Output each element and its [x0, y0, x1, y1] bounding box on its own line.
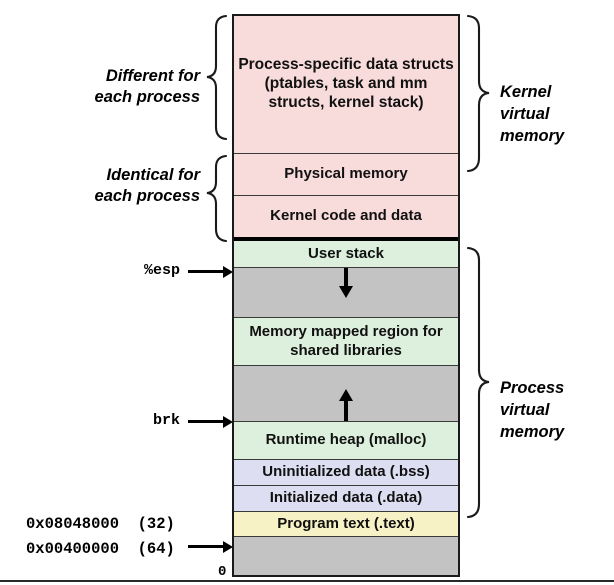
region-memory-mapped: Memory mapped region for shared librarie…: [234, 318, 458, 366]
region-kernel-code-and-data: Kernel code and data: [234, 196, 458, 241]
region-initialized-data: Initialized data (.data): [234, 486, 458, 512]
brace-kernel-virtual-memory: [468, 16, 489, 171]
address-label-64bit: 0x00400000 (64): [26, 540, 175, 558]
brace-different-for-each-process: [207, 16, 226, 139]
region-physical-memory: Physical memory: [234, 154, 458, 196]
memory-layout-diagram: Process-specific data structs (ptables, …: [0, 0, 614, 585]
brace-process-virtual-memory: [468, 248, 489, 517]
label-process-virtual-memory: Process virtual memory: [500, 378, 610, 443]
region-program-text: Program text (.text): [234, 512, 458, 537]
label-identical-for-each-process: Identical for each process: [58, 165, 200, 208]
bottom-divider: [0, 580, 614, 582]
pointer-arrow-brk: [188, 420, 224, 423]
region-heap-growth-gap: [234, 366, 458, 422]
label-kernel-virtual-memory: Kernel virtual memory: [500, 82, 610, 147]
region-runtime-heap: Runtime heap (malloc): [234, 422, 458, 460]
address-label-32bit: 0x08048000 (32): [26, 515, 175, 533]
pointer-arrow-esp: [188, 270, 224, 273]
label-different-for-each-process: Different for each process: [58, 66, 200, 109]
pointer-label-esp: %esp: [80, 262, 180, 279]
address-label-zero: 0: [218, 564, 226, 580]
region-user-stack: User stack: [234, 241, 458, 268]
region-stack-growth-gap: [234, 268, 458, 318]
brace-identical-for-each-process: [207, 156, 226, 241]
pointer-arrow-program-text: [188, 545, 224, 548]
region-reserved-low-memory: [234, 537, 458, 575]
region-process-specific-data: Process-specific data structs (ptables, …: [234, 16, 458, 154]
pointer-label-brk: brk: [80, 412, 180, 429]
memory-column: Process-specific data structs (ptables, …: [232, 14, 460, 577]
region-uninitialized-data: Uninitialized data (.bss): [234, 460, 458, 486]
